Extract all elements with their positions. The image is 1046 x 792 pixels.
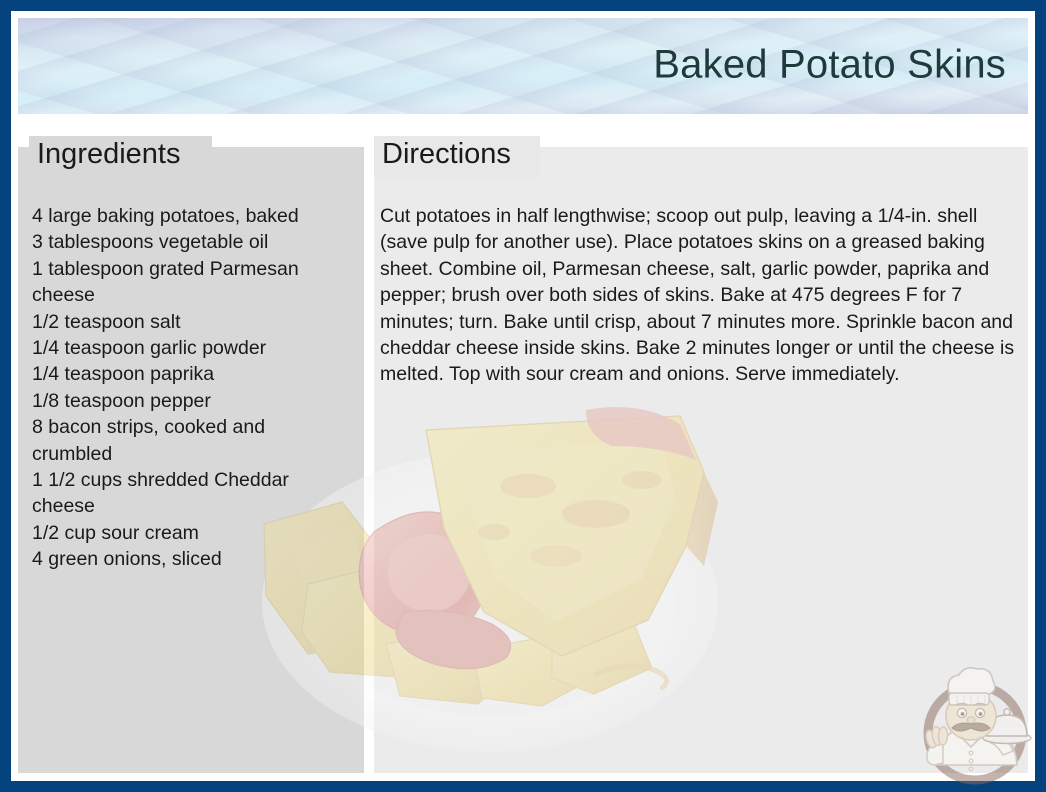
ingredient-item: 1/2 cup sour cream — [32, 520, 337, 546]
ingredient-item: 1/2 teaspoon salt — [32, 309, 337, 335]
ingredient-item: 4 large baking potatoes, baked — [32, 203, 337, 229]
ingredient-item: 1/4 teaspoon garlic powder — [32, 335, 337, 361]
ingredient-item: 1/4 teaspoon paprika — [32, 361, 337, 387]
ingredient-item: 1 tablespoon grated Parmesan cheese — [32, 256, 337, 309]
ingredients-list: 4 large baking potatoes, baked3 tablespo… — [32, 203, 337, 573]
chef-mascot-icon — [909, 659, 1041, 791]
slide-inner-page: Baked Potato Skins — [11, 11, 1035, 781]
ingredient-item: 1 1/2 cups shredded Cheddar cheese — [32, 467, 337, 520]
page-title: Baked Potato Skins — [653, 43, 1006, 88]
directions-heading-label: Directions — [382, 138, 511, 170]
title-banner: Baked Potato Skins — [18, 18, 1028, 114]
directions-body-text: Cut potatoes in half lengthwise; scoop o… — [380, 203, 1025, 388]
recipe-slide: Baked Potato Skins — [0, 0, 1046, 792]
section-header-directions: Directions — [374, 136, 540, 177]
ingredient-item: 4 green onions, sliced — [32, 546, 337, 572]
ingredient-item: 8 bacon strips, cooked and crumbled — [32, 414, 337, 467]
ingredients-heading-label: Ingredients — [37, 138, 181, 170]
ingredient-item: 3 tablespoons vegetable oil — [32, 229, 337, 255]
ingredient-item: 1/8 teaspoon pepper — [32, 388, 337, 414]
section-header-ingredients: Ingredients — [29, 136, 212, 177]
